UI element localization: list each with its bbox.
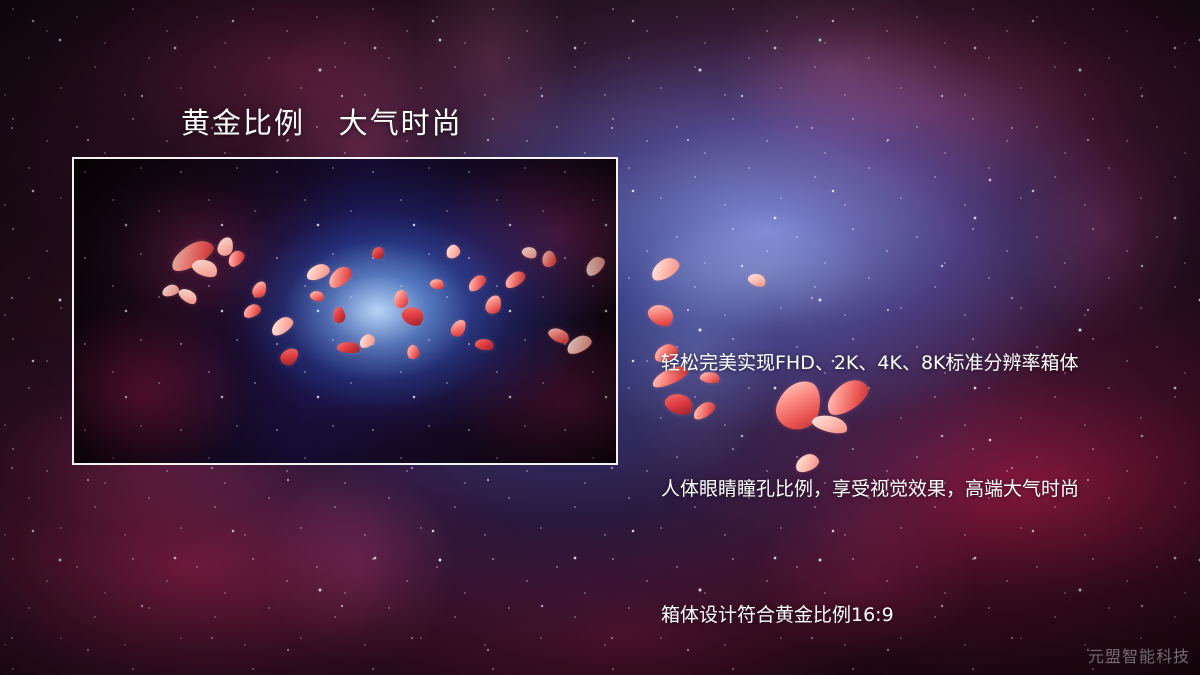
framed-image-content [74, 159, 616, 463]
framed-image-vignette [74, 159, 616, 463]
body-text-block: 轻松完美实现FHD、2K、4K、8K标准分辨率箱体 人体眼睛瞳孔比例，享受视觉效… [661, 258, 1079, 675]
framed-image [72, 157, 618, 465]
body-text-line-3: 箱体设计符合黄金比例16:9 [661, 594, 1079, 636]
body-text-line-2: 人体眼睛瞳孔比例，享受视觉效果，高端大气时尚 [661, 468, 1079, 510]
body-text-line-1: 轻松完美实现FHD、2K、4K、8K标准分辨率箱体 [661, 342, 1079, 384]
watermark: 元盟智能科技 [1088, 643, 1190, 667]
slide-title: 黄金比例 大气时尚 [181, 100, 463, 142]
presentation-slide: 黄金比例 大气时尚 轻松完美实现FHD、2K、4K、8K标准分辨率箱体 人体眼睛… [0, 0, 1200, 675]
